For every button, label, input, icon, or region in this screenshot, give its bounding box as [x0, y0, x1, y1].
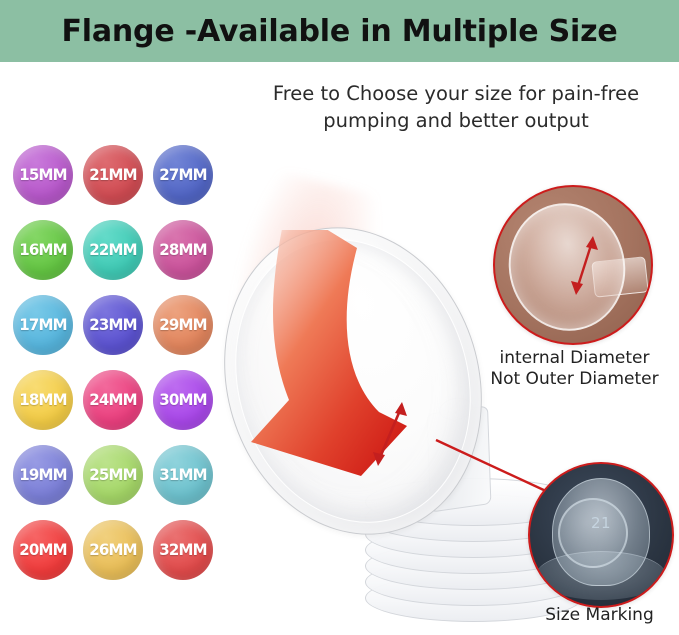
size-badge-32mm[interactable]: 32MM [153, 520, 213, 580]
inset-size-marking-photo: 21 [528, 462, 674, 608]
size-badge-label: 15MM [19, 166, 67, 185]
size-badge-label: 24MM [89, 391, 137, 410]
size-badge-label: 18MM [19, 391, 67, 410]
size-badge-27mm[interactable]: 27MM [153, 145, 213, 205]
caption-internal-diameter: internal Diameter Not Outer Diameter [470, 348, 679, 390]
size-badge-label: 31MM [159, 466, 207, 485]
size-badge-28mm[interactable]: 28MM [153, 220, 213, 280]
size-badge-25mm[interactable]: 25MM [83, 445, 143, 505]
size-badge-26mm[interactable]: 26MM [83, 520, 143, 580]
size-badge-label: 28MM [159, 241, 207, 260]
size-badge-label: 27MM [159, 166, 207, 185]
size-badge-19mm[interactable]: 19MM [13, 445, 73, 505]
caption-size-marking: Size Marking [520, 605, 679, 625]
size-badge-20mm[interactable]: 20MM [13, 520, 73, 580]
subtitle-line-2: pumping and better output [236, 107, 676, 134]
size-badge-label: 25MM [89, 466, 137, 485]
size-badge-17mm[interactable]: 17MM [13, 295, 73, 355]
size-badge-label: 19MM [19, 466, 67, 485]
caption-internal-diameter-line-1: internal Diameter [470, 348, 679, 369]
size-badge-label: 16MM [19, 241, 67, 260]
size-badge-grid: 15MM21MM27MM16MM22MM28MM17MM23MM29MM18MM… [0, 0, 240, 635]
size-badge-22mm[interactable]: 22MM [83, 220, 143, 280]
flange-product-illustration [215, 170, 545, 620]
size-badge-label: 21MM [89, 166, 137, 185]
infographic-page: Flange -Available in Multiple Size Free … [0, 0, 679, 635]
size-badge-15mm[interactable]: 15MM [13, 145, 73, 205]
subtitle-line-1: Free to Choose your size for pain-free [236, 80, 676, 107]
measurement-arrow-icon [365, 400, 415, 470]
size-badge-23mm[interactable]: 23MM [83, 295, 143, 355]
inset-internal-diameter-photo [493, 185, 653, 345]
size-badge-label: 20MM [19, 541, 67, 560]
size-badge-21mm[interactable]: 21MM [83, 145, 143, 205]
size-badge-24mm[interactable]: 24MM [83, 370, 143, 430]
size-badge-30mm[interactable]: 30MM [153, 370, 213, 430]
size-badge-label: 29MM [159, 316, 207, 335]
caption-internal-diameter-line-2: Not Outer Diameter [470, 369, 679, 390]
size-badge-29mm[interactable]: 29MM [153, 295, 213, 355]
size-badge-label: 23MM [89, 316, 137, 335]
subtitle: Free to Choose your size for pain-free p… [236, 80, 676, 134]
size-badge-label: 22MM [89, 241, 137, 260]
size-badge-label: 17MM [19, 316, 67, 335]
size-badge-label: 30MM [159, 391, 207, 410]
size-badge-31mm[interactable]: 31MM [153, 445, 213, 505]
size-badge-18mm[interactable]: 18MM [13, 370, 73, 430]
size-badge-16mm[interactable]: 16MM [13, 220, 73, 280]
internal-diameter-arrow-icon [567, 235, 601, 297]
marking-size-number: 21 [530, 464, 672, 582]
size-badge-label: 32MM [159, 541, 207, 560]
size-badge-label: 26MM [89, 541, 137, 560]
